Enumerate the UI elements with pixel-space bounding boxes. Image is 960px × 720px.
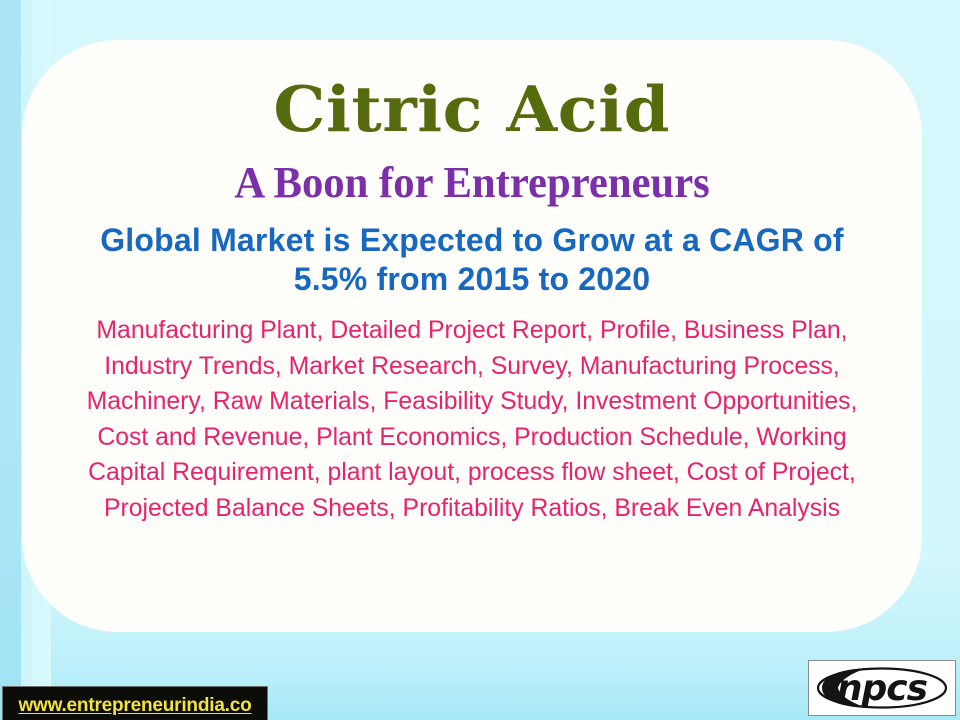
- presentation-slide: Citric Acid A Boon for Entrepreneurs Glo…: [0, 0, 960, 720]
- left-accent-band: [0, 0, 21, 720]
- content-card: Citric Acid A Boon for Entrepreneurs Glo…: [22, 40, 922, 632]
- npcs-logo-text: npcs: [837, 668, 928, 709]
- page-subtitle: A Boon for Entrepreneurs: [234, 161, 709, 205]
- npcs-logo-icon: npcs: [814, 665, 950, 711]
- content-card-inner: Citric Acid A Boon for Entrepreneurs Glo…: [22, 40, 922, 632]
- website-url-plate[interactable]: www.entrepreneurindia.co: [2, 686, 268, 720]
- page-title: Citric Acid: [274, 78, 671, 141]
- website-url-link[interactable]: www.entrepreneurindia.co: [18, 695, 251, 717]
- market-growth-headline: Global Market is Expected to Grow at a C…: [72, 221, 872, 299]
- npcs-logo-plate: npcs: [808, 660, 956, 716]
- report-topics-text: Manufacturing Plant, Detailed Project Re…: [58, 313, 886, 526]
